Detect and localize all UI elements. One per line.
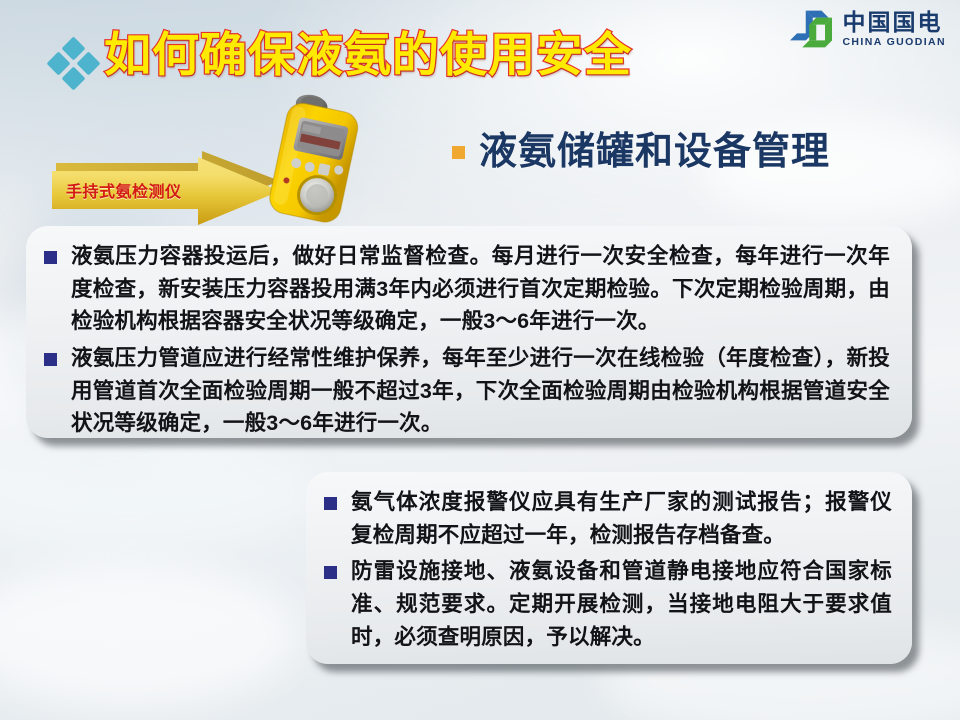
logo-name-cn: 中国国电 [842, 11, 946, 34]
guodian-logo-icon [789, 8, 833, 50]
content-box-lower: 氨气体浓度报警仪应具有生产厂家的测试报告；报警仪复检周期不应超过一年，检测报告存… [306, 472, 912, 664]
square-bullet-icon [452, 146, 465, 159]
square-bullet-icon [324, 566, 337, 579]
content-box-upper: 液氨压力容器投运后，做好日常监督检查。每月进行一次安全检查，每年进行一次年度检查… [26, 226, 912, 438]
bullet-item: 防雷设施接地、液氨设备和管道静电接地应符合国家标准、规范要求。定期开展检测，当接… [324, 555, 892, 653]
bullet-text: 液氨压力容器投运后，做好日常监督检查。每月进行一次安全检查，每年进行一次年度检查… [71, 240, 890, 338]
bullet-item: 氨气体浓度报警仪应具有生产厂家的测试报告；报警仪复检周期不应超过一年，检测报告存… [324, 486, 892, 551]
section-subtitle-label: 液氨储罐和设备管理 [479, 120, 830, 175]
slide-canvas: 如何确保液氨的使用安全 中国国电 CHINA GUODIAN 液氨储罐和设备管理 [0, 0, 960, 720]
bullet-text: 氨气体浓度报警仪应具有生产厂家的测试报告；报警仪复检周期不应超过一年，检测报告存… [351, 486, 892, 551]
logo-name-en: CHINA GUODIAN [842, 37, 946, 48]
callout-arrow: 手持式氨检测仪 [52, 151, 284, 229]
callout-label: 手持式氨检测仪 [66, 178, 182, 202]
bullet-item: 液氨压力管道应进行经常性维护保养，每年至少进行一次在线检验（年度检查），新投用管… [44, 342, 890, 440]
bullet-item: 液氨压力容器投运后，做好日常监督检查。每月进行一次安全检查，每年进行一次年度检查… [44, 240, 890, 338]
bullet-text: 防雷设施接地、液氨设备和管道静电接地应符合国家标准、规范要求。定期开展检测，当接… [351, 555, 892, 653]
gas-detector-icon [258, 92, 382, 232]
square-bullet-icon [44, 353, 57, 366]
square-bullet-icon [324, 497, 337, 510]
section-subtitle: 液氨储罐和设备管理 [452, 120, 830, 175]
brand-logo: 中国国电 CHINA GUODIAN [789, 8, 946, 50]
bullet-text: 液氨压力管道应进行经常性维护保养，每年至少进行一次在线检验（年度检查），新投用管… [71, 342, 890, 440]
square-bullet-icon [44, 251, 57, 264]
handheld-ammonia-detector-image [258, 92, 382, 232]
background-mist [0, 430, 320, 550]
diamond-cluster-icon [48, 38, 100, 88]
page-title: 如何确保液氨的使用安全 [104, 30, 632, 79]
background-mist [0, 560, 300, 710]
